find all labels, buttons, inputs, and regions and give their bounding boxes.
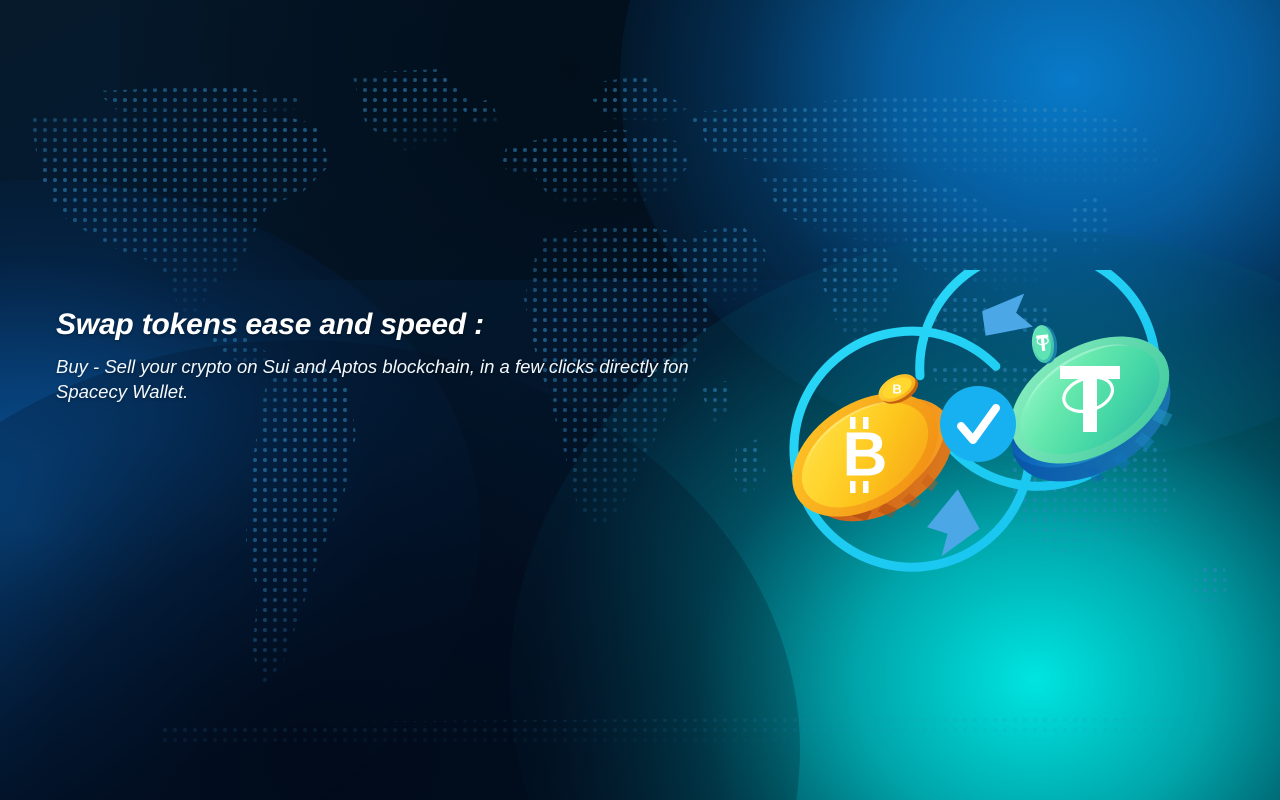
copy-block: Swap tokens ease and speed : Buy - Sell … [56,306,756,404]
svg-text:B: B [843,421,888,490]
bitcoin-symbol: B [843,417,888,493]
svg-text:B: B [892,382,901,397]
page-title: Swap tokens ease and speed : [56,306,756,344]
page-subtitle: Buy - Sell your crypto on Sui and Aptos … [56,354,732,404]
check-circle-badge[interactable] [940,386,1016,462]
check-circle-bg [940,386,1016,462]
illustration-svg: B B [730,270,1220,600]
swap-tokens-banner: Swap tokens ease and speed : Buy - Sell … [0,0,1280,800]
arrow-head-upper [980,289,1037,340]
token-swap-illustration: B B [730,270,1220,600]
